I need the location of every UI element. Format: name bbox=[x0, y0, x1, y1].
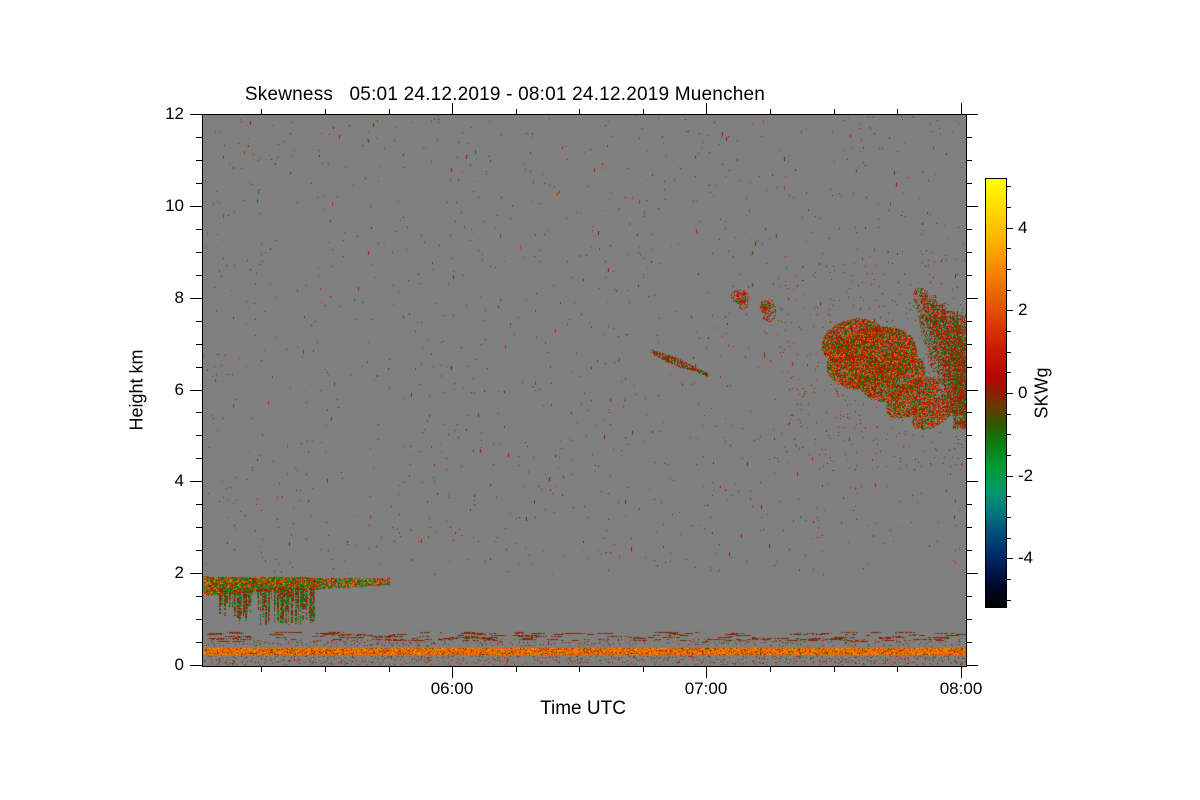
colorbar-title: SKWg bbox=[1032, 367, 1053, 418]
colorbar-minor-tick bbox=[1007, 207, 1011, 208]
colorbar-tick bbox=[1007, 558, 1013, 559]
page-title: Skewness 05:01 24.12.2019 - 08:01 24.12.… bbox=[0, 84, 1010, 106]
colorbar-minor-tick bbox=[1007, 455, 1011, 456]
y-axis-minor-tick bbox=[196, 229, 202, 230]
y-axis-minor-tick bbox=[196, 160, 202, 161]
colorbar-minor-tick bbox=[1007, 248, 1011, 249]
x-axis-tick-top bbox=[452, 103, 453, 115]
heatmap-plot-area bbox=[202, 114, 967, 667]
x-axis-minor-tick bbox=[897, 666, 898, 672]
y-axis-minor-tick-right bbox=[966, 252, 972, 253]
y-axis-tick bbox=[190, 390, 202, 391]
y-axis-minor-tick bbox=[196, 275, 202, 276]
x-axis-title: Time UTC bbox=[540, 698, 626, 720]
x-axis-tick-label: 08:00 bbox=[940, 679, 983, 699]
colorbar-minor-tick bbox=[1007, 434, 1011, 435]
colorbar-tick-label: -2 bbox=[1018, 466, 1033, 486]
y-axis-minor-tick-right bbox=[966, 550, 972, 551]
y-axis-minor-tick-right bbox=[966, 321, 972, 322]
x-axis-minor-tick bbox=[325, 666, 326, 672]
y-axis-minor-tick bbox=[196, 252, 202, 253]
y-axis-tick-right bbox=[966, 390, 978, 391]
colorbar-tick-label: 4 bbox=[1018, 218, 1027, 238]
y-axis-tick bbox=[190, 298, 202, 299]
y-axis-minor-tick-right bbox=[966, 344, 972, 345]
y-axis-minor-tick-right bbox=[966, 435, 972, 436]
x-axis-minor-tick-top bbox=[516, 109, 517, 115]
y-axis-minor-tick bbox=[196, 527, 202, 528]
y-axis-minor-tick-right bbox=[966, 458, 972, 459]
y-axis-tick-right bbox=[966, 573, 978, 574]
y-axis-tick bbox=[190, 114, 202, 115]
y-axis-minor-tick-right bbox=[966, 527, 972, 528]
colorbar-minor-tick bbox=[1007, 414, 1011, 415]
y-axis-tick-label: 6 bbox=[175, 380, 184, 400]
y-axis-tick bbox=[190, 481, 202, 482]
x-axis-minor-tick bbox=[643, 666, 644, 672]
y-axis-minor-tick-right bbox=[966, 504, 972, 505]
colorbar-minor-tick bbox=[1007, 331, 1011, 332]
colorbar-gradient bbox=[985, 178, 1007, 608]
skewness-heatmap-canvas bbox=[203, 115, 966, 666]
colorbar-minor-tick bbox=[1007, 600, 1011, 601]
y-axis-tick-label: 10 bbox=[165, 196, 184, 216]
x-axis-tick bbox=[961, 666, 962, 678]
y-axis-minor-tick bbox=[196, 137, 202, 138]
x-axis-minor-tick bbox=[579, 666, 580, 672]
colorbar-tick bbox=[1007, 310, 1013, 311]
colorbar-tick bbox=[1007, 228, 1013, 229]
y-axis-tick-right bbox=[966, 206, 978, 207]
y-axis-minor-tick-right bbox=[966, 160, 972, 161]
colorbar-minor-tick bbox=[1007, 269, 1011, 270]
y-axis-minor-tick-right bbox=[966, 275, 972, 276]
x-axis-minor-tick bbox=[770, 666, 771, 672]
colorbar-minor-tick bbox=[1007, 579, 1011, 580]
y-axis-minor-tick-right bbox=[966, 137, 972, 138]
y-axis-minor-tick-right bbox=[966, 367, 972, 368]
y-axis-minor-tick bbox=[196, 367, 202, 368]
y-axis-tick-label: 0 bbox=[175, 655, 184, 675]
x-axis-tick-top bbox=[961, 103, 962, 115]
x-axis-minor-tick-top bbox=[325, 109, 326, 115]
colorbar-tick bbox=[1007, 393, 1013, 394]
y-axis-minor-tick bbox=[196, 619, 202, 620]
y-axis-minor-tick bbox=[196, 596, 202, 597]
y-axis-minor-tick bbox=[196, 550, 202, 551]
x-axis-tick-top bbox=[706, 103, 707, 115]
y-axis-minor-tick bbox=[196, 183, 202, 184]
colorbar-tick-label: 0 bbox=[1018, 383, 1027, 403]
x-axis-minor-tick bbox=[261, 666, 262, 672]
x-axis-tick-label: 07:00 bbox=[685, 679, 728, 699]
y-axis-minor-tick bbox=[196, 435, 202, 436]
y-axis-tick-label: 4 bbox=[175, 471, 184, 491]
x-axis-minor-tick-top bbox=[897, 109, 898, 115]
colorbar-tick bbox=[1007, 476, 1013, 477]
colorbar-minor-tick bbox=[1007, 517, 1011, 518]
y-axis-minor-tick bbox=[196, 412, 202, 413]
colorbar-tick-label: -4 bbox=[1018, 548, 1033, 568]
x-axis-tick bbox=[452, 666, 453, 678]
colorbar-tick-label: 2 bbox=[1018, 300, 1027, 320]
x-axis-minor-tick bbox=[516, 666, 517, 672]
x-axis-minor-tick-top bbox=[834, 109, 835, 115]
y-axis-tick-label: 8 bbox=[175, 288, 184, 308]
y-axis-tick-right bbox=[966, 481, 978, 482]
x-axis-minor-tick-top bbox=[643, 109, 644, 115]
y-axis-tick bbox=[190, 206, 202, 207]
y-axis-tick bbox=[190, 573, 202, 574]
y-axis-minor-tick-right bbox=[966, 412, 972, 413]
y-axis-minor-tick-right bbox=[966, 642, 972, 643]
y-axis-minor-tick bbox=[196, 642, 202, 643]
x-axis-minor-tick bbox=[389, 666, 390, 672]
y-axis-tick-label: 2 bbox=[175, 563, 184, 583]
x-axis-tick bbox=[706, 666, 707, 678]
y-axis-tick bbox=[190, 665, 202, 666]
y-axis-minor-tick-right bbox=[966, 619, 972, 620]
x-axis-minor-tick-top bbox=[579, 109, 580, 115]
y-axis-minor-tick bbox=[196, 321, 202, 322]
colorbar bbox=[985, 178, 1007, 608]
y-axis-minor-tick bbox=[196, 344, 202, 345]
y-axis-tick-right bbox=[966, 665, 978, 666]
y-axis-minor-tick bbox=[196, 458, 202, 459]
colorbar-minor-tick bbox=[1007, 352, 1011, 353]
colorbar-minor-tick bbox=[1007, 372, 1011, 373]
y-axis-title: Height km bbox=[127, 349, 148, 430]
colorbar-minor-tick bbox=[1007, 186, 1011, 187]
colorbar-minor-tick bbox=[1007, 496, 1011, 497]
x-axis-tick-label: 06:00 bbox=[431, 679, 474, 699]
y-axis-tick-right bbox=[966, 298, 978, 299]
y-axis-tick-label: 12 bbox=[165, 104, 184, 124]
colorbar-minor-tick bbox=[1007, 538, 1011, 539]
y-axis-minor-tick bbox=[196, 504, 202, 505]
x-axis-minor-tick bbox=[834, 666, 835, 672]
y-axis-tick-right bbox=[966, 114, 978, 115]
x-axis-minor-tick-top bbox=[261, 109, 262, 115]
colorbar-minor-tick bbox=[1007, 290, 1011, 291]
x-axis-minor-tick-top bbox=[389, 109, 390, 115]
y-axis-minor-tick-right bbox=[966, 183, 972, 184]
y-axis-minor-tick-right bbox=[966, 229, 972, 230]
x-axis-minor-tick-top bbox=[770, 109, 771, 115]
y-axis-minor-tick-right bbox=[966, 596, 972, 597]
